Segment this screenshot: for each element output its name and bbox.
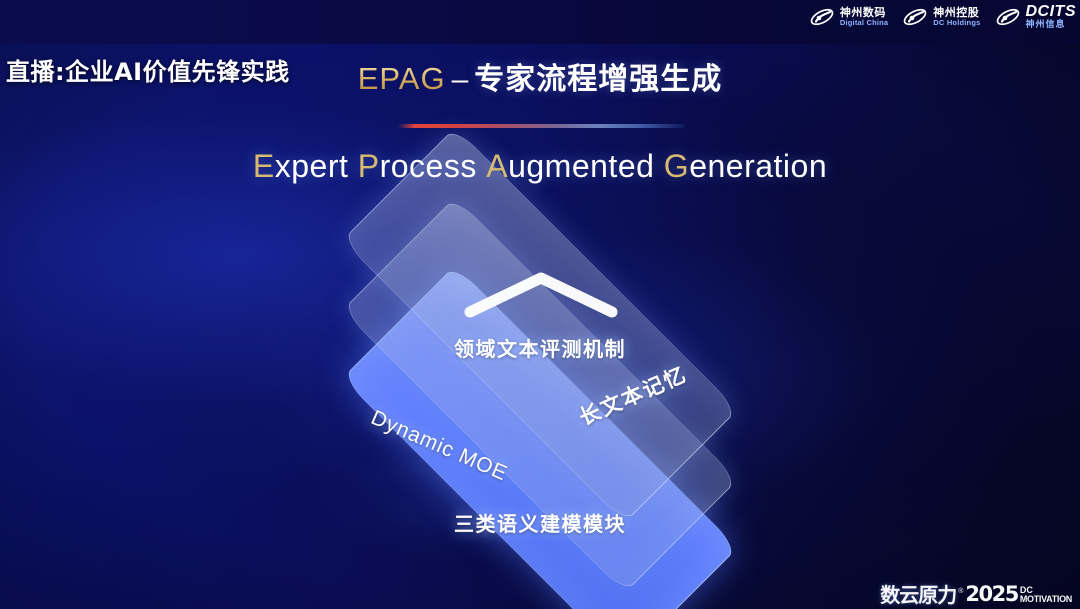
diagram-label-top: 领域文本评测机制 (0, 333, 1080, 362)
partner-label-dcits: DCITS 神州信息 (1026, 4, 1077, 30)
headline-chinese: 专家流程增强生成 (474, 62, 722, 97)
partner-en-digital-china: Digital China (840, 19, 888, 27)
slide-canvas: 数云原力 ® 2025 DC MOTIVATION 直播:企业AI价值先锋实践 … (0, 0, 1080, 609)
watermark-motivation: MOTIVATION (1020, 595, 1072, 604)
subtitle-rest-process: rocess (380, 148, 477, 184)
gradient-divider (398, 124, 685, 128)
partner-en-dc-holdings: DC Holdings (933, 19, 980, 27)
headline-acronym: EPAG (358, 61, 446, 96)
subtitle-cap-a: A (486, 148, 508, 184)
swirl-icon (809, 5, 835, 29)
diagram-label-bottom: 三类语义建模模块 (0, 508, 1080, 537)
watermark-chinese: 数云原力 (880, 585, 956, 605)
partner-logo-dcits: DCITS 神州信息 (995, 4, 1077, 30)
swirl-icon (902, 5, 928, 29)
subtitle-cap-g: G (664, 148, 689, 184)
partner-label-digital-china: 神州数码 Digital China (840, 7, 888, 26)
partner-logo-dc-holdings: 神州控股 DC Holdings (902, 5, 980, 29)
subtitle-rest-generation: eneration (689, 148, 827, 184)
partner-logo-digital-china: 神州数码 Digital China (809, 5, 888, 29)
chevron-up-icon (460, 268, 622, 320)
swirl-icon (995, 5, 1021, 29)
subtitle-rest-augmented: ugmented (508, 148, 654, 184)
brand-watermark-bottom: 数云原力 ® 2025 DC MOTIVATION (880, 584, 1072, 605)
partner-logo-group: 神州数码 Digital China 神州控股 DC Holdings (809, 4, 1076, 30)
partner-en-dcits: DCITS (1026, 4, 1077, 21)
watermark-year: 2025 (965, 584, 1017, 605)
partner-label-dc-holdings: 神州控股 DC Holdings (933, 7, 980, 26)
subtitle-rest-expert: xpert (275, 148, 349, 184)
partner-cn-dcits: 神州信息 (1026, 21, 1077, 30)
headline-dash: – (452, 63, 469, 96)
watermark-registered: ® (958, 588, 963, 595)
subtitle-cap-e: E (253, 148, 275, 184)
slide-subtitle: Expert Process Augmented Generation (0, 148, 1080, 185)
watermark-dc-motivation: DC MOTIVATION (1020, 586, 1072, 604)
subtitle-cap-p: P (358, 148, 380, 184)
live-session-title: 直播:企业AI价值先锋实践 (6, 52, 290, 87)
